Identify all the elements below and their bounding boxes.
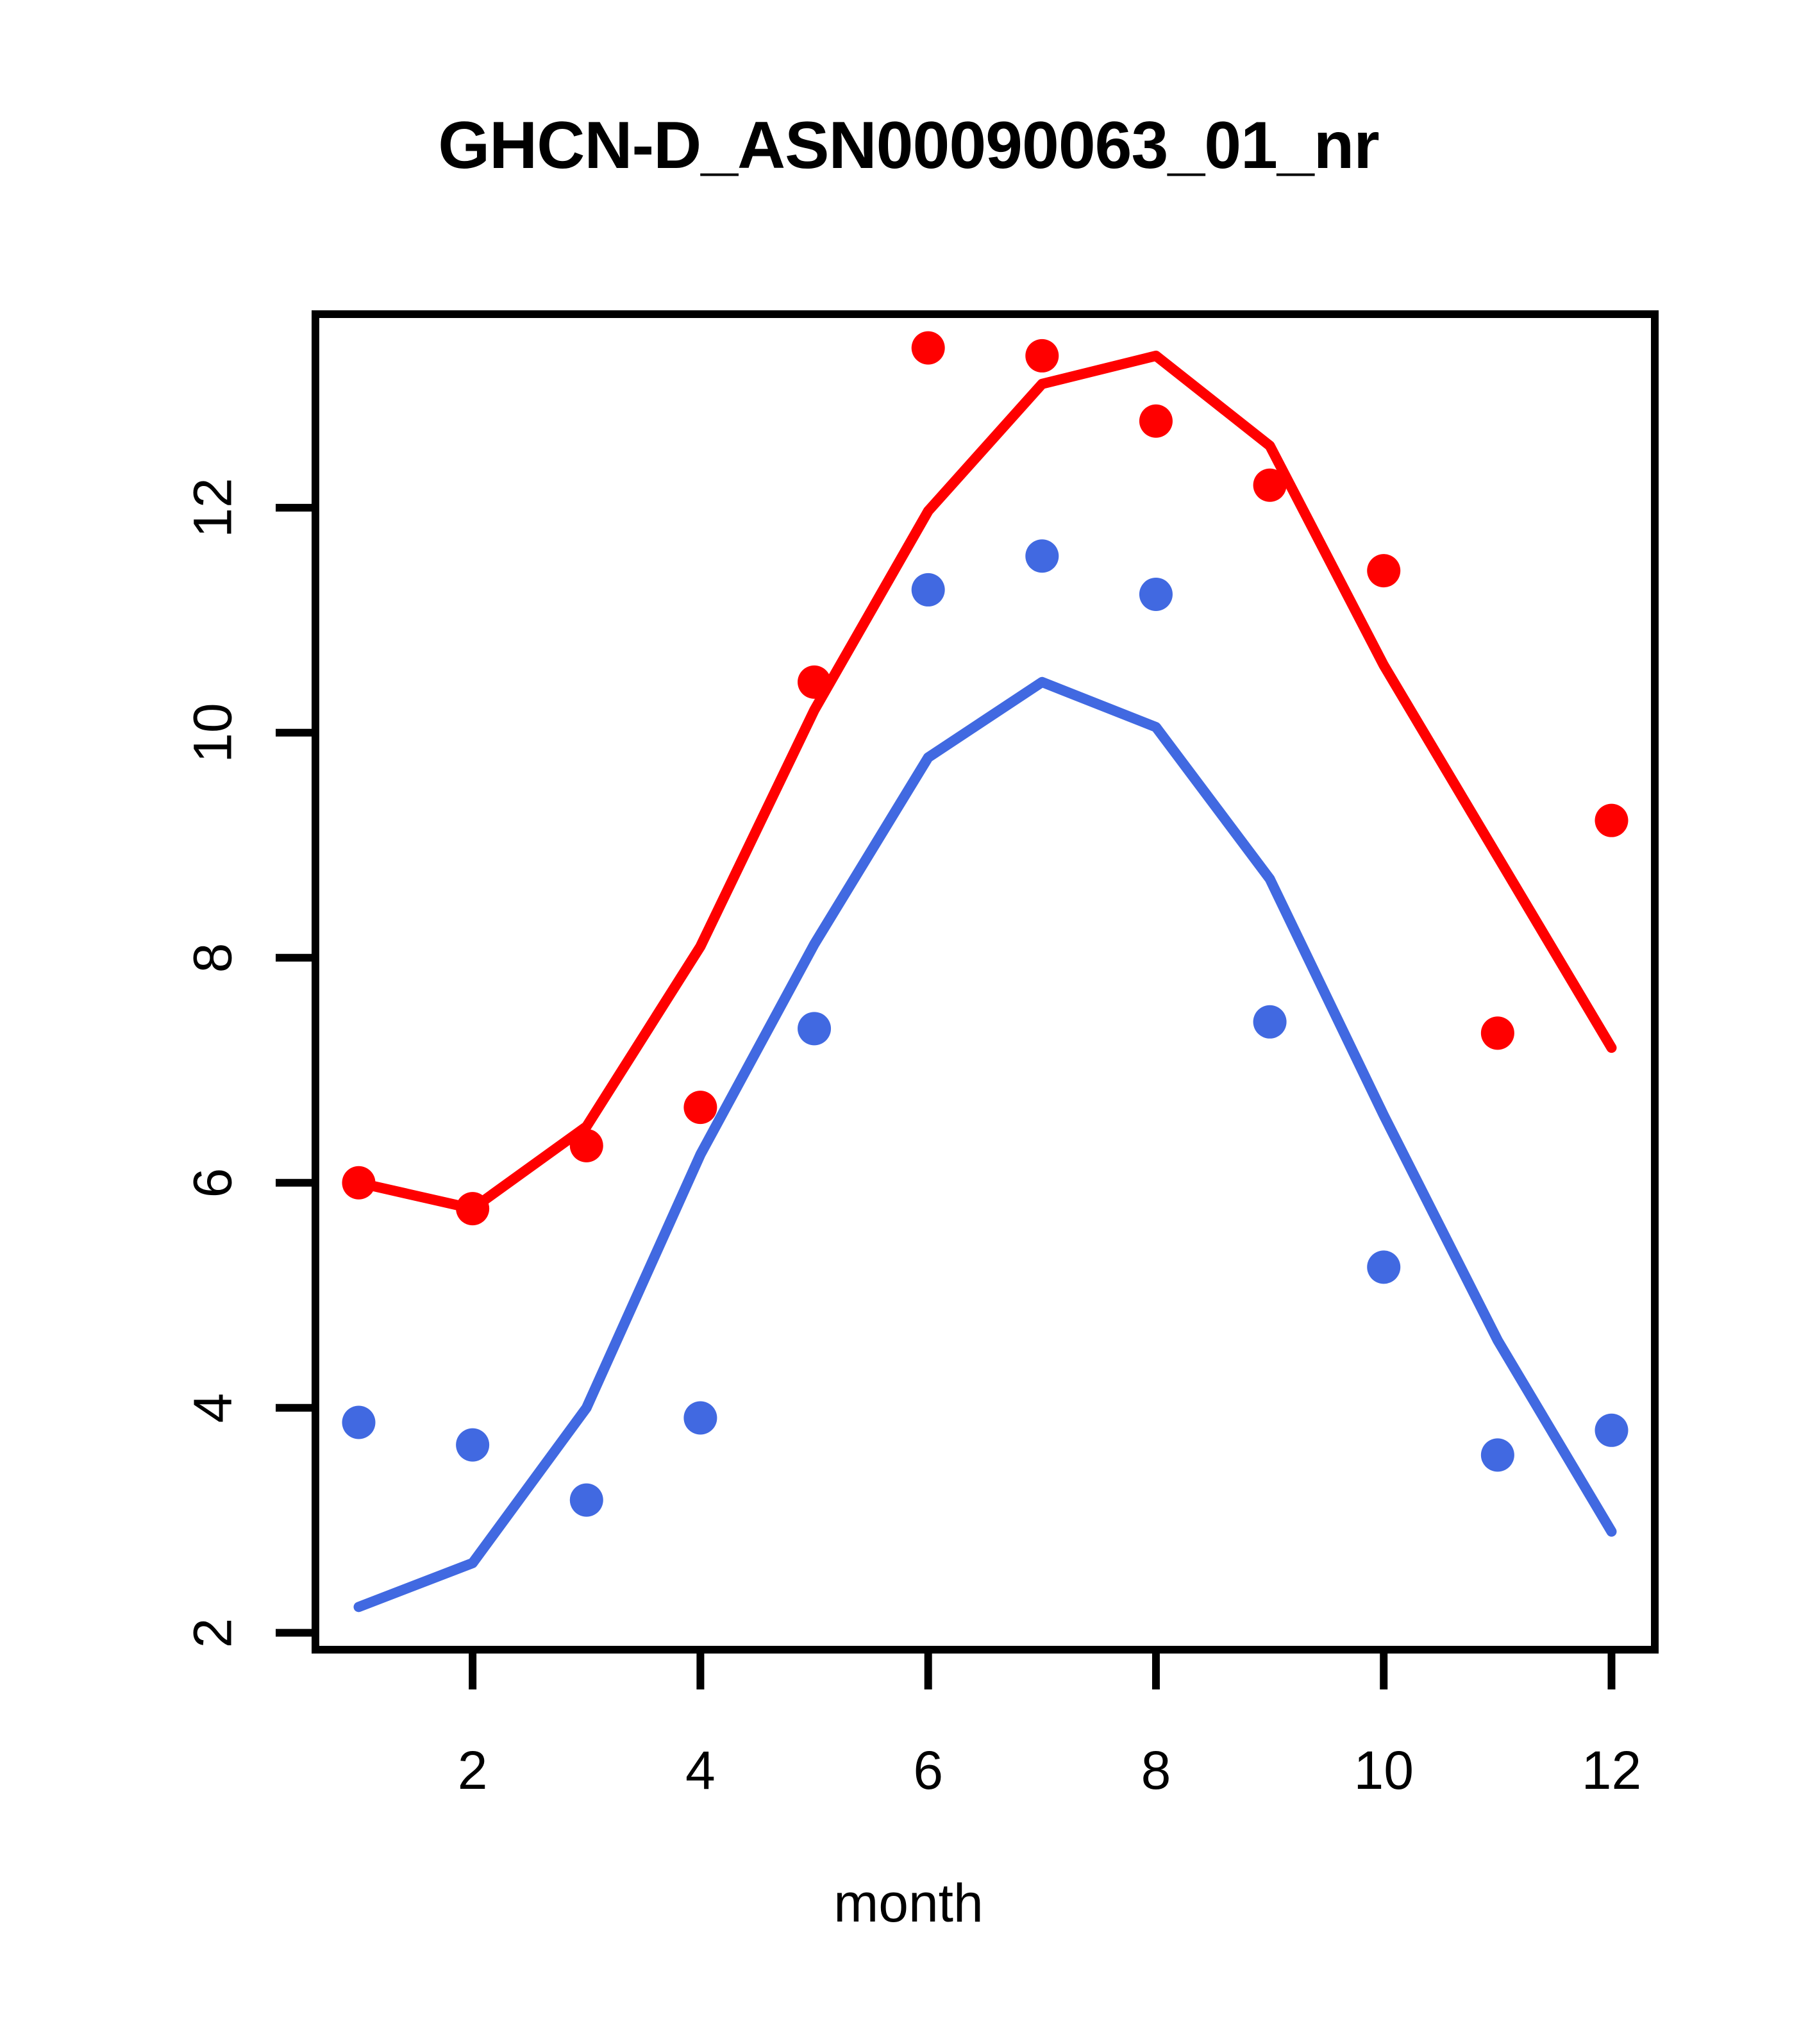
data-point-red-points — [1481, 1016, 1514, 1050]
series-points — [342, 331, 1629, 1517]
data-point-blue-points — [912, 573, 945, 607]
data-point-red-points — [798, 666, 831, 699]
data-point-red-points — [683, 1091, 717, 1124]
data-point-blue-points — [1253, 1005, 1287, 1039]
x-tick-label: 6 — [913, 1739, 943, 1802]
x-tick-label: 2 — [458, 1739, 488, 1802]
data-point-red-points — [1025, 339, 1059, 373]
x-tick-label: 12 — [1582, 1739, 1641, 1802]
data-point-red-points — [1139, 405, 1173, 438]
data-point-blue-points — [683, 1402, 717, 1435]
series-polyline-blue-line — [359, 682, 1612, 1607]
x-axis-title: month — [0, 1872, 1817, 1934]
plot-figure: GHCN-D_ASN00090063_01_nr 24681012 246810… — [0, 0, 1817, 2044]
x-axis-ticks — [473, 1650, 1611, 1689]
series-lines — [359, 356, 1612, 1607]
y-tick-label: 2 — [182, 1618, 244, 1648]
data-point-blue-points — [1367, 1250, 1400, 1284]
data-point-red-points — [1367, 554, 1400, 587]
data-point-red-points — [1595, 804, 1628, 837]
y-tick-label: 6 — [182, 1168, 244, 1198]
chart-canvas — [0, 0, 1817, 2044]
y-tick-label: 4 — [182, 1393, 244, 1423]
data-point-red-points — [912, 331, 945, 365]
data-point-red-points — [1253, 469, 1287, 502]
data-point-blue-points — [1595, 1414, 1628, 1447]
data-point-blue-points — [1481, 1438, 1514, 1471]
data-point-blue-points — [1025, 539, 1059, 573]
y-tick-label: 12 — [182, 478, 244, 537]
data-point-blue-points — [1139, 578, 1173, 611]
y-tick-label: 10 — [182, 703, 244, 762]
data-point-blue-points — [798, 1012, 831, 1045]
x-tick-label: 10 — [1354, 1739, 1414, 1802]
data-point-blue-points — [342, 1406, 376, 1439]
x-tick-label: 8 — [1141, 1739, 1171, 1802]
data-point-red-points — [570, 1129, 603, 1162]
plot-box — [315, 314, 1655, 1650]
data-point-blue-points — [456, 1428, 489, 1462]
plot-border — [315, 314, 1655, 1650]
y-axis-ticks — [276, 508, 315, 1633]
y-tick-label: 8 — [182, 942, 244, 973]
data-point-red-points — [342, 1166, 376, 1200]
data-point-blue-points — [570, 1484, 603, 1517]
series-polyline-red-line — [359, 356, 1612, 1209]
data-point-red-points — [456, 1192, 489, 1225]
x-tick-label: 4 — [685, 1739, 716, 1802]
